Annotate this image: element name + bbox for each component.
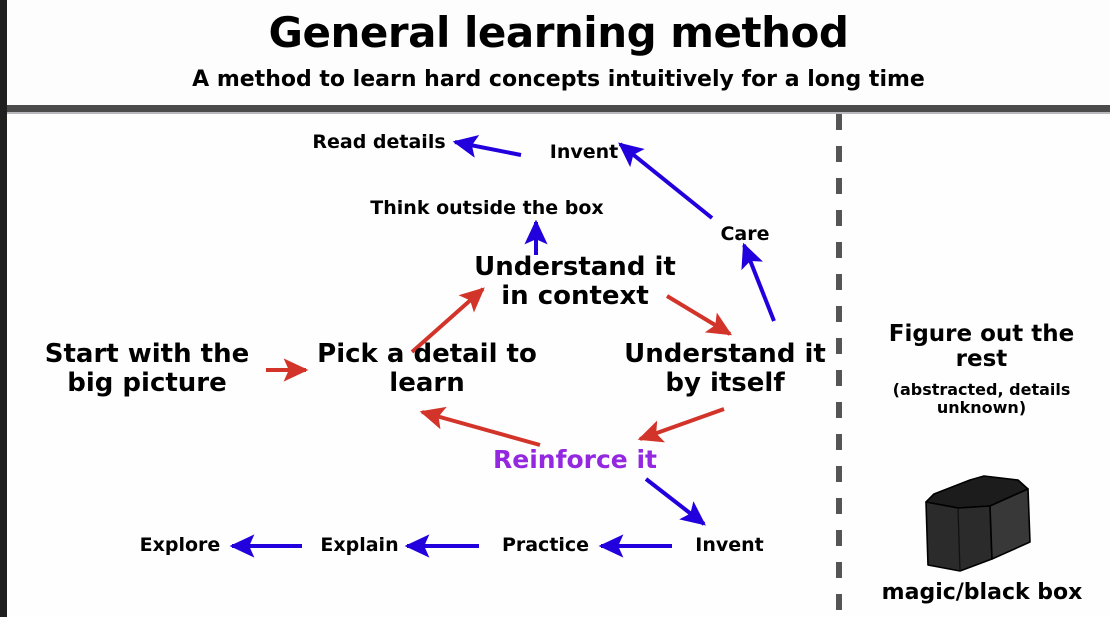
node-reinforce-it[interactable]: Reinforce it — [475, 446, 675, 474]
diagram-area: Read details Invent Think outside the bo… — [7, 114, 1110, 617]
node-explore[interactable]: Explore — [115, 535, 245, 556]
node-understand-it-in-context[interactable]: Understand it in context — [450, 253, 700, 311]
arrow-reinforce-to-pick — [422, 412, 540, 445]
node-pick-a-detail-to-learn[interactable]: Pick a detail to learn — [307, 340, 547, 398]
panel-subtitle-abstracted-details-unknown: (abstracted, details unknown) — [859, 381, 1104, 418]
node-read-details[interactable]: Read details — [299, 132, 459, 153]
slide-canvas: General learning method A method to lear… — [0, 0, 1110, 617]
node-invent-top[interactable]: Invent — [529, 142, 639, 163]
node-explain[interactable]: Explain — [302, 535, 417, 556]
node-understand-it-by-itself[interactable]: Understand it by itself — [615, 340, 835, 398]
page-title: General learning method — [7, 8, 1110, 57]
arrow-itself-to-reinforce — [640, 409, 724, 439]
slide-left-edge — [0, 0, 7, 617]
black-box-cube-icon — [912, 462, 1052, 577]
page-subtitle: A method to learn hard concepts intuitiv… — [7, 67, 1110, 92]
node-start-with-the-big-picture[interactable]: Start with the big picture — [32, 340, 262, 398]
node-care[interactable]: Care — [695, 224, 795, 245]
header-divider-rule — [7, 105, 1110, 114]
black-box-caption: magic/black box — [862, 580, 1102, 605]
arrow-invent-to-read-details — [455, 142, 521, 155]
node-think-outside-the-box[interactable]: Think outside the box — [362, 198, 612, 219]
panel-title-figure-out-the-rest: Figure out the rest — [869, 322, 1094, 373]
arrow-itself-to-care — [744, 245, 774, 321]
node-practice[interactable]: Practice — [483, 535, 608, 556]
node-invent-bottom[interactable]: Invent — [672, 535, 787, 556]
arrow-reinforce-to-invent-bottom — [646, 479, 704, 524]
